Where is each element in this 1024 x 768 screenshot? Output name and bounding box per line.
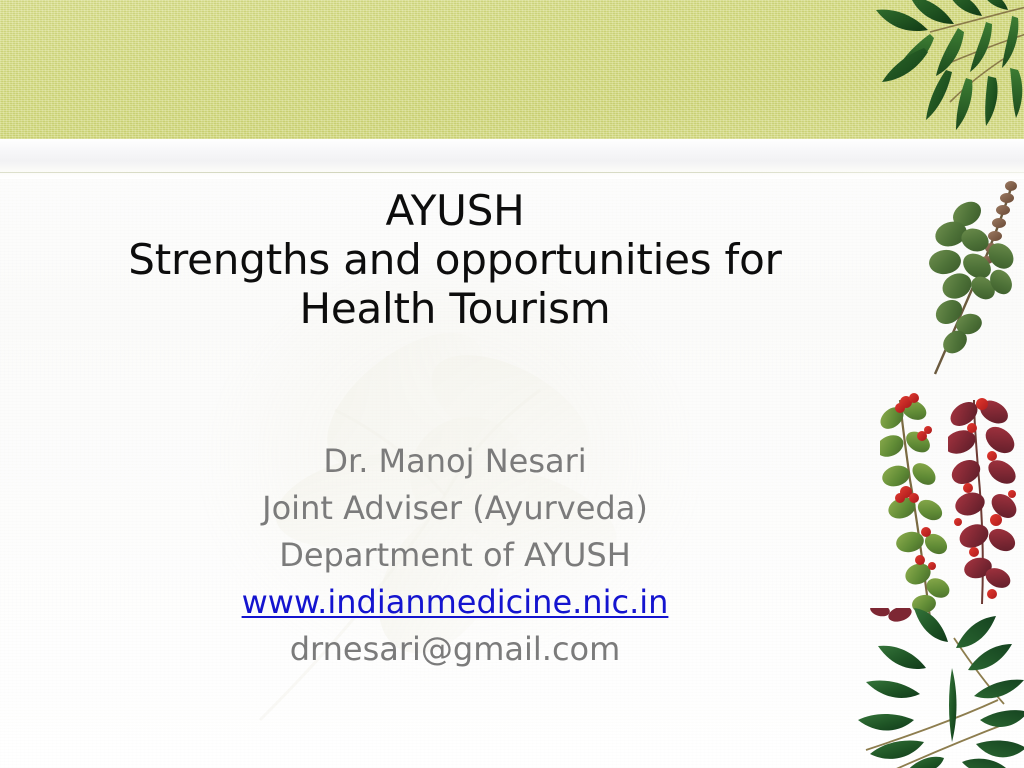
presenter-name: Dr. Manoj Nesari xyxy=(60,438,850,485)
presenter-role: Joint Adviser (Ayurveda) xyxy=(60,485,850,532)
title-line-1: AYUSH xyxy=(60,186,850,235)
slide-content: AYUSH Strengths and opportunities for He… xyxy=(0,0,900,768)
presenter-department: Department of AYUSH xyxy=(60,532,850,579)
presenter-details: Dr. Manoj Nesari Joint Adviser (Ayurveda… xyxy=(60,438,850,673)
presenter-email: drnesari@gmail.com xyxy=(60,626,850,673)
title-line-3: Health Tourism xyxy=(60,284,850,333)
website-link[interactable]: www.indianmedicine.nic.in xyxy=(60,579,850,626)
page-title: AYUSH Strengths and opportunities for He… xyxy=(60,186,850,333)
title-line-2: Strengths and opportunities for xyxy=(60,235,850,284)
presentation-slide: AYUSH Strengths and opportunities for He… xyxy=(0,0,1024,768)
